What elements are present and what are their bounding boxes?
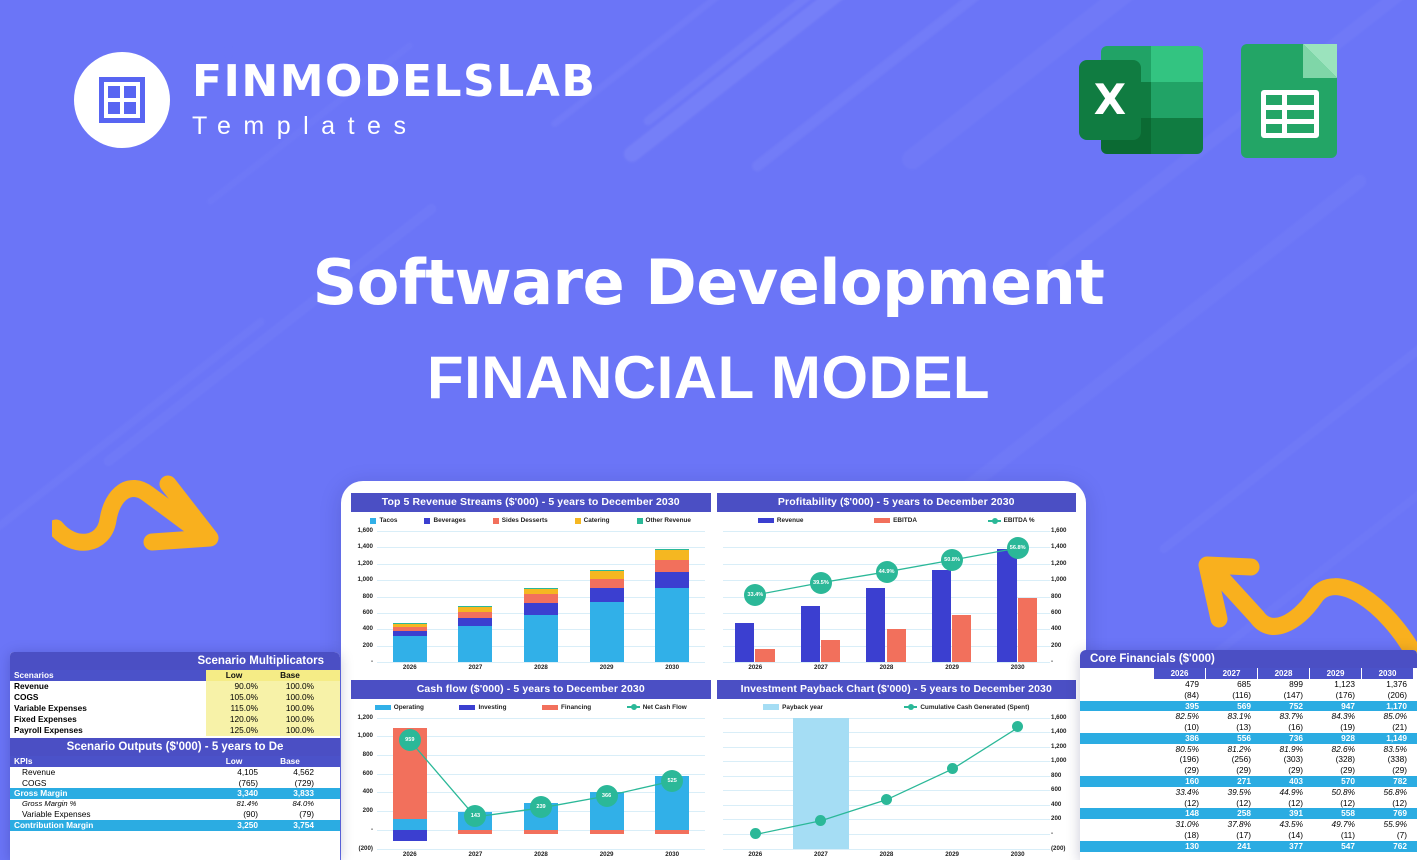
table-row: Contribution Margin3,2503,754 — [10, 820, 340, 831]
cell-base: 3,754 — [262, 820, 318, 831]
table-cell: (206) — [1362, 690, 1414, 701]
data-point-label: 39.5% — [810, 572, 832, 594]
headline-secondary: FINANCIAL MODEL — [0, 343, 1417, 412]
cell-low: (765) — [206, 778, 262, 789]
bar-segment — [458, 607, 492, 612]
table-cell: (303) — [1258, 754, 1310, 765]
table-cell: 83.5% — [1362, 744, 1414, 755]
table-cell: 928 — [1310, 733, 1362, 744]
legend-label: Net Cash Flow — [643, 704, 687, 711]
y-axis-tick-label: 1,000 — [351, 576, 373, 583]
table-cell: (18) — [1154, 830, 1206, 841]
table-cell: (13) — [1206, 722, 1258, 733]
table-cell: (29) — [1258, 765, 1310, 776]
table-row: Revenue4,1054,562 — [10, 767, 340, 778]
table-cell: 736 — [1258, 733, 1310, 744]
table-cell: 377 — [1258, 841, 1310, 852]
table-cell: 84.3% — [1310, 711, 1362, 722]
cell-low: 3,340 — [206, 788, 262, 799]
column-header-base: Base — [262, 670, 318, 681]
table-cell: 31.0% — [1154, 819, 1206, 830]
chart-plot-cash-flow: (200)-2004006008001,0001,200202620272028… — [351, 714, 711, 860]
legend-label: EBITDA — [893, 517, 917, 524]
table-cell: 782 — [1362, 776, 1414, 787]
table-cell: 391 — [1258, 808, 1310, 819]
core-financials-spreadsheet: Core Financials ($'000) 2026 2027 2028 2… — [1080, 650, 1417, 860]
table-cell: (196) — [1154, 754, 1206, 765]
table-row: COGS105.0%100.0% — [10, 692, 340, 703]
table-row: 130241377547762 — [1080, 841, 1417, 852]
bar-segment — [393, 623, 427, 627]
table-cell: (147) — [1258, 690, 1310, 701]
table-cell: (12) — [1258, 798, 1310, 809]
table-row: (10)(13)(16)(19)(21) — [1080, 722, 1417, 733]
row-label: Variable Expenses — [10, 703, 206, 714]
table-row: (29)(29)(29)(29)(29) — [1080, 765, 1417, 776]
table-cell: (16) — [1258, 722, 1310, 733]
y-axis-tick-label: 400 — [351, 625, 373, 632]
table-cell: 83.7% — [1258, 711, 1310, 722]
data-point-marker — [947, 763, 958, 774]
table-cell: (11) — [1310, 830, 1362, 841]
gridline — [377, 531, 705, 532]
table-cell: (19) — [1310, 722, 1362, 733]
legend-label: EBITDA % — [1004, 517, 1035, 524]
google-sheets-icon — [1231, 38, 1355, 162]
y-axis-tick-label: 200 — [351, 642, 373, 649]
table-row: 82.5%83.1%83.7%84.3%85.0% — [1080, 711, 1417, 722]
table-cell: 752 — [1258, 701, 1310, 712]
dashboard-card: Top 5 Revenue Streams ($'000) - 5 years … — [341, 481, 1086, 860]
column-header-2028: 2028 — [1258, 668, 1310, 679]
data-point-label: 56.8% — [1007, 537, 1029, 559]
table-row: 3955697529471,170 — [1080, 701, 1417, 712]
table-cell: (7) — [1362, 830, 1414, 841]
chart-title-cash-flow: Cash flow ($'000) - 5 years to December … — [351, 680, 711, 699]
data-point-label: 525 — [661, 770, 683, 792]
bar-segment — [655, 549, 689, 560]
microsoft-excel-icon: X — [1079, 38, 1203, 162]
column-header-low: Low — [206, 670, 262, 681]
table-cell: 762 — [1362, 841, 1414, 852]
row-label: Contribution Margin — [10, 820, 206, 831]
grid-logo-icon — [74, 52, 170, 148]
y-axis-tick-label: 600 — [351, 609, 373, 616]
table-cell: 160 — [1154, 776, 1206, 787]
table-cell: 56.8% — [1362, 787, 1414, 798]
table-cell: 899 — [1258, 679, 1310, 690]
table-cell: 1,149 — [1362, 733, 1414, 744]
x-axis-tick-label: 2030 — [639, 664, 705, 671]
table-cell: 81.9% — [1258, 744, 1310, 755]
cell-base: (79) — [262, 809, 318, 820]
table-row: Payroll Expenses125.0%100.0% — [10, 725, 340, 736]
table-cell: 258 — [1206, 808, 1258, 819]
column-header-low: Low — [206, 756, 262, 767]
table-cell: 241 — [1206, 841, 1258, 852]
table-row: 3865567369281,149 — [1080, 733, 1417, 744]
table-cell: 1,170 — [1362, 701, 1414, 712]
chart-panel-cash-flow: Cash flow ($'000) - 5 years to December … — [351, 680, 711, 860]
column-header-2027: 2027 — [1206, 668, 1258, 679]
table-row: Variable Expenses115.0%100.0% — [10, 703, 340, 714]
legend-label: Catering — [584, 517, 610, 524]
table-cell: 558 — [1310, 808, 1362, 819]
table-cell: (84) — [1154, 690, 1206, 701]
cell-low: 125.0% — [206, 725, 262, 736]
table-cell: (328) — [1310, 754, 1362, 765]
table-cell: 556 — [1206, 733, 1258, 744]
chart-plot-profitability: -2004006008001,0001,2001,4001,6002026202… — [717, 527, 1077, 674]
legend-label: Beverages — [433, 517, 465, 524]
bar-segment — [393, 636, 427, 662]
brand-logo: FINMODELSLAB Templates — [74, 52, 596, 148]
chart-title-investment-payback: Investment Payback Chart ($'000) - 5 yea… — [717, 680, 1077, 699]
table-cell: 37.8% — [1206, 819, 1258, 830]
cell-base: 100.0% — [262, 725, 318, 736]
table-cell: 49.7% — [1310, 819, 1362, 830]
row-label: Payroll Expenses — [10, 725, 206, 736]
table-cell: (29) — [1362, 765, 1414, 776]
row-label: Revenue — [10, 767, 206, 778]
chart-title-profitability: Profitability ($'000) - 5 years to Decem… — [717, 493, 1077, 512]
table-header-row: 2026 2027 2028 2029 2030 — [1080, 668, 1417, 679]
table-cell: 50.8% — [1310, 787, 1362, 798]
table-cell: 33.4% — [1154, 787, 1206, 798]
cell-low: 115.0% — [206, 703, 262, 714]
table-cell: 81.2% — [1206, 744, 1258, 755]
legend-label: Sides Desserts — [502, 517, 548, 524]
bar-segment — [524, 588, 558, 594]
cell-low: 3,250 — [206, 820, 262, 831]
table-cell: 44.9% — [1258, 787, 1310, 798]
column-header-2029: 2029 — [1310, 668, 1362, 679]
table-row: Gross Margin3,3403,833 — [10, 788, 340, 799]
table-row: Variable Expenses(90)(79) — [10, 809, 340, 820]
cell-base: 100.0% — [262, 692, 318, 703]
table-row: 160271403570782 — [1080, 776, 1417, 787]
chart-panel-profitability: Profitability ($'000) - 5 years to Decem… — [717, 493, 1077, 674]
table-cell: 83.1% — [1206, 711, 1258, 722]
legend-label: Financing — [561, 704, 591, 711]
column-header-2030: 2030 — [1362, 668, 1414, 679]
row-label: Fixed Expenses — [10, 714, 206, 725]
table-cell: (29) — [1310, 765, 1362, 776]
data-point-marker — [881, 794, 892, 805]
table-cell: (14) — [1258, 830, 1310, 841]
table-cell: (12) — [1154, 798, 1206, 809]
data-point-label: 959 — [399, 729, 421, 751]
table-cell: 148 — [1154, 808, 1206, 819]
table-cell: 769 — [1362, 808, 1414, 819]
column-header-2026: 2026 — [1154, 668, 1206, 679]
x-axis-tick-label: 2029 — [574, 664, 640, 671]
table-row: (18)(17)(14)(11)(7) — [1080, 830, 1417, 841]
table-cell: 547 — [1310, 841, 1362, 852]
legend-label: Investing — [478, 704, 506, 711]
table-cell: 82.6% — [1310, 744, 1362, 755]
scenario-spreadsheet: Scenario Multiplicators Scenarios Low Ba… — [10, 652, 340, 860]
core-financials-title: Core Financials ($'000) — [1080, 650, 1417, 668]
table-cell: 569 — [1206, 701, 1258, 712]
table-cell: (116) — [1206, 690, 1258, 701]
x-axis-tick-label: 2027 — [443, 664, 509, 671]
bar-segment — [590, 588, 624, 602]
table-cell: 570 — [1310, 776, 1362, 787]
table-cell: (12) — [1310, 798, 1362, 809]
legend-label: Payback year — [782, 704, 823, 711]
headline-primary: Software Development — [0, 246, 1417, 319]
cell-base: 100.0% — [262, 714, 318, 725]
row-label: COGS — [10, 778, 206, 789]
legend-label: Other Revenue — [646, 517, 691, 524]
bar-segment — [458, 626, 492, 662]
data-point-label: 44.9% — [876, 561, 898, 583]
legend-label: Revenue — [777, 517, 804, 524]
cell-base: (729) — [262, 778, 318, 789]
chart-legend-revenue-streams: Tacos Beverages Sides Desserts Catering … — [351, 512, 711, 527]
table-cell: 1,376 — [1362, 679, 1414, 690]
table-cell: (256) — [1206, 754, 1258, 765]
chart-panel-revenue-streams: Top 5 Revenue Streams ($'000) - 5 years … — [351, 493, 711, 674]
y-axis-tick-label: 1,600 — [351, 527, 373, 534]
bar-segment — [458, 618, 492, 626]
table-row: 80.5%81.2%81.9%82.6%83.5% — [1080, 744, 1417, 755]
table-row: COGS(765)(729) — [10, 778, 340, 789]
bar-segment — [393, 627, 427, 632]
cell-low: 81.4% — [206, 799, 262, 809]
bar-segment — [458, 612, 492, 618]
cell-base: 3,833 — [262, 788, 318, 799]
chart-plot-investment-payback: (200)-2004006008001,0001,2001,4001,60020… — [717, 714, 1077, 860]
bar-segment — [655, 588, 689, 662]
table-cell: (12) — [1206, 798, 1258, 809]
column-header-scenarios: Scenarios — [10, 670, 206, 681]
table-cell: (29) — [1206, 765, 1258, 776]
cell-base: 4,562 — [262, 767, 318, 778]
cell-low: 90.0% — [206, 681, 262, 692]
table-cell: 85.0% — [1362, 711, 1414, 722]
y-axis-tick-label: 800 — [351, 593, 373, 600]
bar-segment — [590, 602, 624, 662]
table-cell: (29) — [1154, 765, 1206, 776]
table-cell: 55.9% — [1362, 819, 1414, 830]
column-header-base: Base — [262, 756, 318, 767]
table-cell: (21) — [1362, 722, 1414, 733]
table-cell: (10) — [1154, 722, 1206, 733]
cell-low: 4,105 — [206, 767, 262, 778]
chart-panel-investment-payback: Investment Payback Chart ($'000) - 5 yea… — [717, 680, 1077, 860]
table-row: (84)(116)(147)(176)(206) — [1080, 690, 1417, 701]
table-cell: (176) — [1310, 690, 1362, 701]
x-axis-tick-label: 2026 — [377, 664, 443, 671]
table-cell: (338) — [1362, 754, 1414, 765]
chart-title-revenue-streams: Top 5 Revenue Streams ($'000) - 5 years … — [351, 493, 711, 512]
table-row: (12)(12)(12)(12)(12) — [1080, 798, 1417, 809]
bar-segment — [524, 594, 558, 603]
cell-low: (90) — [206, 809, 262, 820]
bar-segment — [655, 572, 689, 588]
excel-letter: X — [1094, 79, 1126, 121]
bar-segment — [524, 615, 558, 662]
data-point-label: 50.8% — [941, 549, 963, 571]
table-row: Gross Margin %81.4%84.0% — [10, 799, 340, 809]
row-label: Gross Margin % — [10, 799, 206, 809]
table-row: 4796858991,1231,376 — [1080, 679, 1417, 690]
column-header-kpis: KPIs — [10, 756, 206, 767]
table-cell: (17) — [1206, 830, 1258, 841]
cell-base: 100.0% — [262, 703, 318, 714]
power-accent-icon — [224, 45, 233, 58]
brand-tagline: Templates — [192, 112, 596, 141]
x-axis-tick-label: 2028 — [508, 664, 574, 671]
cell-base: 100.0% — [262, 681, 318, 692]
table-cell: 685 — [1206, 679, 1258, 690]
table-cell: 1,123 — [1310, 679, 1362, 690]
scenario-multiplicators-title: Scenario Multiplicators — [10, 652, 340, 670]
legend-label: Operating — [394, 704, 424, 711]
table-cell: 130 — [1154, 841, 1206, 852]
chart-plot-revenue-streams: -2004006008001,0001,2001,4001,6002026202… — [351, 527, 711, 674]
table-row: (196)(256)(303)(328)(338) — [1080, 754, 1417, 765]
chart-legend-cash-flow: Operating Investing Financing Net Cash F… — [351, 699, 711, 714]
bar-segment — [524, 603, 558, 614]
table-row: 31.0%37.8%43.5%49.7%55.9% — [1080, 819, 1417, 830]
data-point-label: 366 — [596, 785, 618, 807]
table-row: 33.4%39.5%44.9%50.8%56.8% — [1080, 787, 1417, 798]
table-cell: 82.5% — [1154, 711, 1206, 722]
table-cell: 39.5% — [1206, 787, 1258, 798]
brand-name: FINMODELSLAB — [192, 60, 596, 104]
scenario-outputs-title: Scenario Outputs ($'000) - 5 years to De — [10, 738, 340, 756]
cell-base: 84.0% — [262, 799, 318, 809]
bar-segment — [393, 631, 427, 636]
y-axis-tick-label: - — [351, 658, 373, 665]
table-row: Revenue90.0%100.0% — [10, 681, 340, 692]
table-header-row: KPIs Low Base — [10, 756, 340, 767]
table-cell: 947 — [1310, 701, 1362, 712]
table-header-row: Scenarios Low Base — [10, 670, 340, 681]
line-series — [717, 714, 1077, 860]
table-row: 148258391558769 — [1080, 808, 1417, 819]
table-cell: 80.5% — [1154, 744, 1206, 755]
cell-low: 105.0% — [206, 692, 262, 703]
table-cell: 43.5% — [1258, 819, 1310, 830]
curved-arrow-right-icon — [52, 450, 242, 570]
table-row: Fixed Expenses120.0%100.0% — [10, 714, 340, 725]
cell-low: 120.0% — [206, 714, 262, 725]
gridline — [377, 662, 705, 663]
table-cell: 386 — [1154, 733, 1206, 744]
table-cell: (12) — [1362, 798, 1414, 809]
row-label: Gross Margin — [10, 788, 206, 799]
table-cell: 271 — [1206, 776, 1258, 787]
table-cell: 479 — [1154, 679, 1206, 690]
row-label: COGS — [10, 692, 206, 703]
row-label: Variable Expenses — [10, 809, 206, 820]
bar-segment — [590, 579, 624, 588]
data-point-marker — [815, 815, 826, 826]
y-axis-tick-label: 1,200 — [351, 560, 373, 567]
legend-label: Tacos — [379, 517, 397, 524]
legend-label: Cumulative Cash Generated (Spent) — [920, 704, 1029, 711]
table-cell: 395 — [1154, 701, 1206, 712]
chart-legend-investment-payback: Payback year Cumulative Cash Generated (… — [717, 699, 1077, 714]
app-icons-group: X — [1079, 38, 1355, 162]
chart-legend-profitability: Revenue EBITDA EBITDA % — [717, 512, 1077, 527]
bar-segment — [590, 570, 624, 579]
row-label: Revenue — [10, 681, 206, 692]
table-cell: 403 — [1258, 776, 1310, 787]
bar-segment — [655, 560, 689, 571]
y-axis-tick-label: 1,400 — [351, 543, 373, 550]
